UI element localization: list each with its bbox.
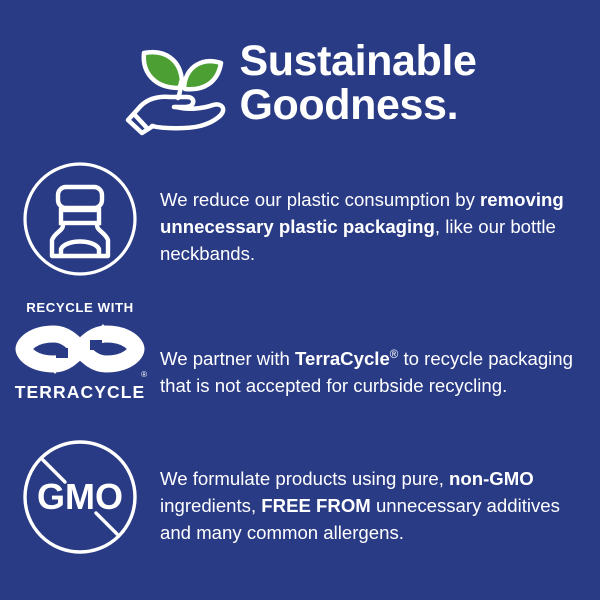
benefit-row-gmo: GMO We formulate products using pure, no… [0, 438, 600, 556]
no-gmo-label: GMO [37, 476, 123, 517]
benefit-icon-slot [0, 160, 160, 278]
page-title: Sustainable Goodness. [240, 40, 477, 128]
registered-trademark-icon: ® [141, 371, 147, 379]
page-title-line-2: Goodness. [240, 84, 477, 128]
benefit-text-terracycle: We partner with TerraCycle® to recycle p… [160, 300, 600, 400]
bottle-neckband-icon [21, 160, 139, 278]
benefit-icon-slot: RECYCLE WITH ® [0, 300, 160, 403]
benefit-row-terracycle: RECYCLE WITH ® [0, 300, 600, 403]
terracycle-logo-icon: RECYCLE WITH ® [5, 300, 155, 403]
terracycle-infinity-icon: ® [10, 318, 150, 380]
page-title-line-1: Sustainable [240, 40, 477, 84]
benefit-row-plastic: We reduce our plastic consumption by rem… [0, 160, 600, 278]
benefit-text-plastic: We reduce our plastic consumption by rem… [160, 160, 600, 267]
hand-holding-sprout-icon [124, 36, 232, 136]
header: Sustainable Goodness. [0, 26, 600, 141]
terracycle-top-label: RECYCLE WITH [26, 300, 134, 315]
benefit-icon-slot: GMO [0, 438, 160, 556]
benefit-text-gmo: We formulate products using pure, non-GM… [160, 438, 600, 546]
terracycle-wordmark: TERRACYCLE [15, 382, 146, 403]
sustainable-goodness-panel: Sustainable Goodness. We reduce [0, 0, 600, 600]
no-gmo-icon: GMO [21, 438, 139, 556]
